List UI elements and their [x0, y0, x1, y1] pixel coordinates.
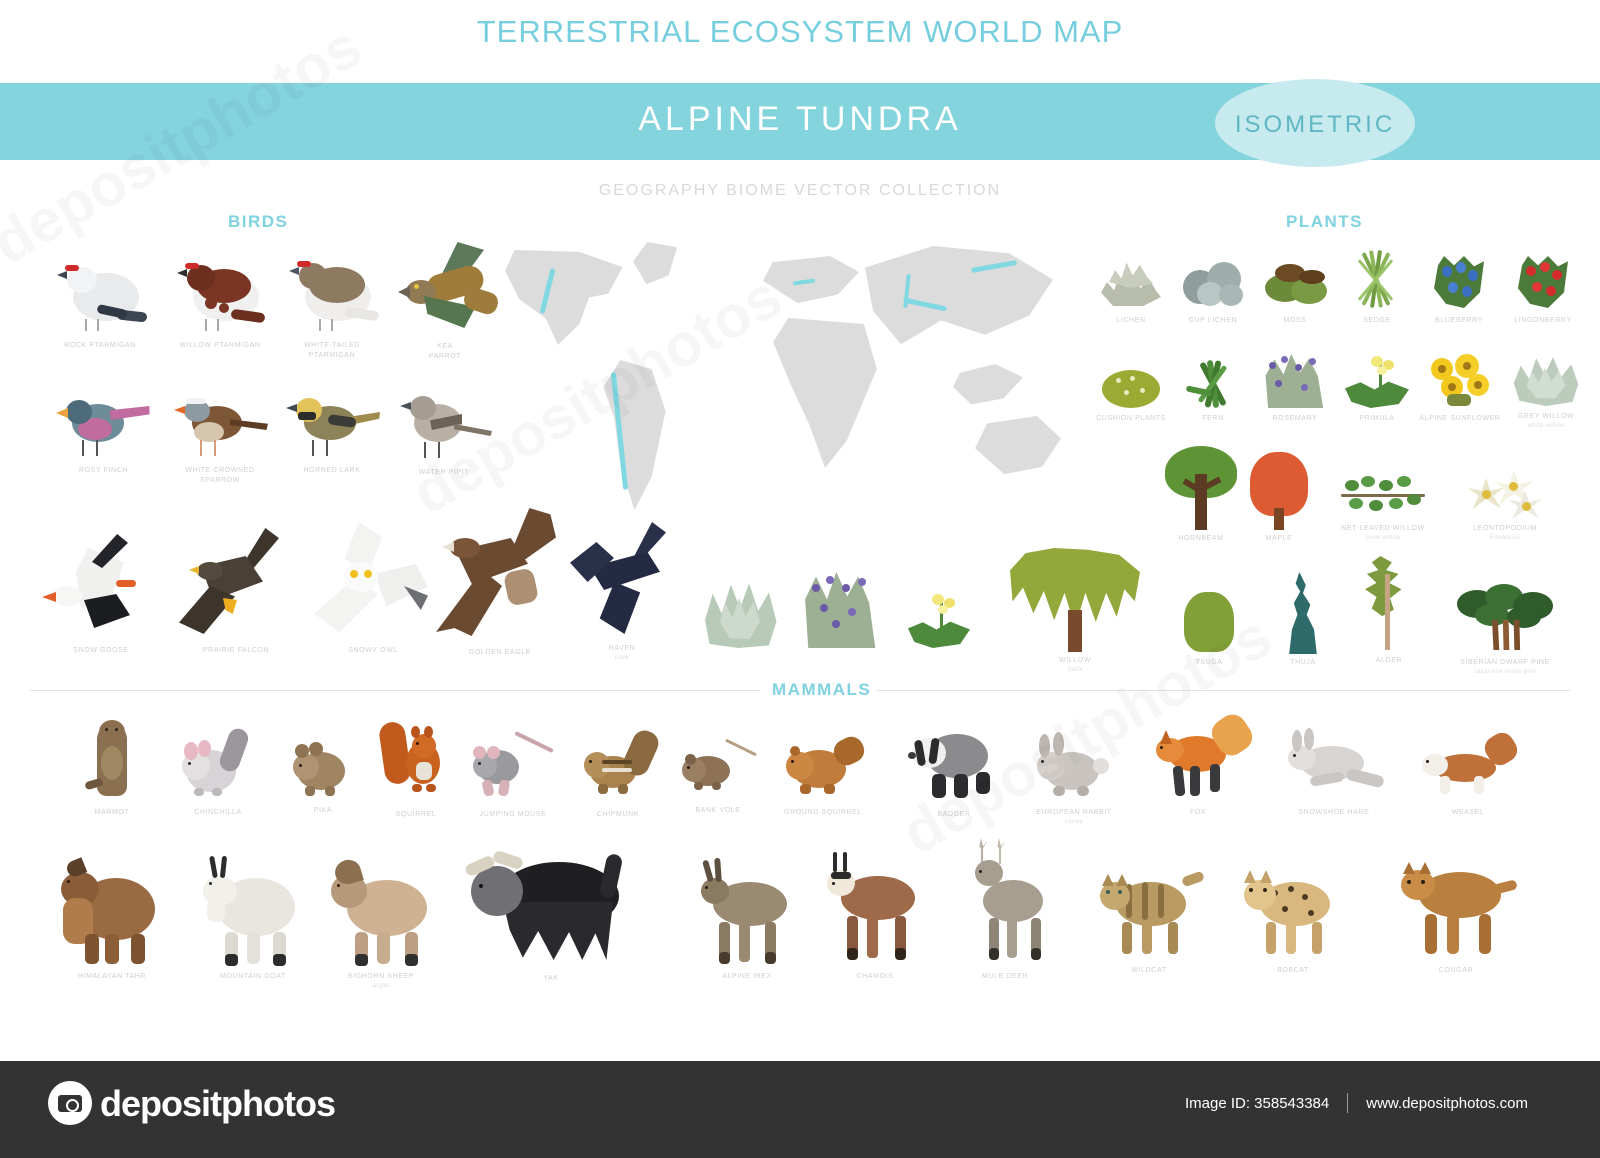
golden-eagle-illustration [434, 508, 566, 644]
species-label: ROSEMARY [1273, 414, 1318, 424]
species-card-willow-ptarmigan[interactable]: WILLOW PTARMIGAN [160, 245, 280, 351]
species-card-water-pipit[interactable]: WATER PIPIT [384, 390, 504, 478]
species-card-snow-goose[interactable]: SNOW GOOSE [36, 530, 166, 656]
species-label: LEONTOPODIUM [1473, 524, 1537, 534]
species-label: ALPINE IBEX [722, 972, 771, 982]
species-card-cougar[interactable]: COUGAR [1386, 846, 1526, 976]
raven-illustration [566, 522, 678, 640]
lingonberry-illustration [1510, 248, 1576, 312]
species-label: GREY WILLOW [1518, 412, 1575, 422]
landmass-europe [763, 256, 859, 318]
prairie-falcon-illustration [173, 524, 299, 642]
species-card-siberian-dwarf-pine[interactable]: SIBERIAN DWARF PINE Japanese stone pine [1440, 582, 1570, 677]
chamois-illustration [819, 848, 931, 968]
squirrel-illustration [378, 718, 454, 806]
willow-illustration [1006, 548, 1144, 652]
marmot-illustration [81, 718, 143, 804]
species-card-ground-squirrel[interactable]: GROUND SQUIRREL [770, 728, 876, 818]
species-card-pika[interactable]: PIKA [278, 734, 368, 816]
fern-illustration [1180, 356, 1246, 410]
species-card-primula-large[interactable] [898, 592, 980, 650]
cougar-illustration [1393, 846, 1519, 962]
species-card-primula[interactable]: PRIMULA [1334, 352, 1420, 424]
species-label: ALDER [1376, 656, 1402, 666]
species-label: MULE DEER [982, 972, 1028, 982]
kea-parrot-illustration [390, 238, 500, 338]
maple-illustration [1244, 452, 1314, 530]
species-label: SIBERIAN DWARF PINE [1460, 658, 1550, 668]
species-sublabel: crow [615, 654, 629, 663]
website-url[interactable]: www.depositphotos.com [1366, 1095, 1528, 1112]
rosemary-illustration [1255, 348, 1335, 410]
species-label: SEDGE [1363, 316, 1391, 326]
species-card-golden-eagle[interactable]: GOLDEN EAGLE [430, 508, 570, 658]
species-label: HORNED LARK [303, 466, 360, 476]
species-card-mountain-goat[interactable]: MOUNTAIN GOAT [190, 850, 316, 982]
alpine-ibex-illustration [691, 854, 803, 968]
species-label: TSUGA [1195, 658, 1222, 668]
species-card-white-tailed-ptarmigan[interactable]: WHITE-TAILED PTARMIGAN [272, 245, 392, 361]
species-card-snowy-owl[interactable]: SNOWY OWL [308, 520, 438, 656]
badger-illustration [906, 714, 1002, 806]
species-label: MOUNTAIN GOAT [220, 972, 286, 982]
grey-shrub-illustration [700, 580, 780, 650]
species-card-bobcat[interactable]: BOBCAT [1230, 856, 1356, 976]
alpine-sunflower-illustration [1421, 350, 1499, 410]
weasel-illustration [1416, 726, 1520, 804]
species-label: WEASEL [1452, 808, 1485, 818]
brand-name: depositphotos [100, 1083, 335, 1125]
species-card-tsuga[interactable]: TSUGA [1168, 592, 1250, 668]
chipmunk-illustration [576, 726, 660, 806]
yak-illustration [463, 840, 639, 970]
image-id-label: Image ID: 358543384 [1185, 1095, 1329, 1112]
species-card-marmot[interactable]: MARMOT [64, 718, 160, 818]
section-heading-birds: BIRDS [228, 212, 288, 232]
landmass-north-america [505, 250, 625, 345]
grey-willow-illustration [1507, 350, 1585, 408]
moss-illustration [1259, 248, 1331, 312]
snowshoe-hare-illustration [1280, 722, 1388, 804]
section-divider-right [876, 690, 1570, 691]
fox-illustration [1146, 710, 1250, 804]
species-label: JUMPING MOUSE [480, 810, 547, 820]
species-card-blueberry[interactable]: BLUEBERRY [1416, 248, 1502, 326]
chinchilla-illustration [176, 726, 260, 804]
tsuga-illustration [1178, 592, 1240, 654]
species-label: MOSS [1283, 316, 1306, 326]
isometric-badge-label: ISOMETRIC [1215, 111, 1415, 139]
species-label: KEA PARROT [429, 342, 461, 362]
species-card-grey-willow[interactable]: GREY WILLOW white willow [1500, 350, 1592, 431]
species-card-yak[interactable]: YAK [456, 840, 646, 984]
bobcat-illustration [1236, 856, 1350, 962]
landmass-africa [771, 318, 879, 468]
camera-icon [58, 1095, 82, 1112]
species-label: PRAIRIE FALCON [203, 646, 269, 656]
siberian-dwarf-pine-illustration [1451, 582, 1559, 654]
species-label: ROSY FINCH [79, 466, 128, 476]
species-label: BIGHORN SHEEP [348, 972, 414, 982]
species-label: HIMALAYAN TAHR [78, 972, 146, 982]
species-label: BLUEBERRY [1435, 316, 1483, 326]
species-card-snowshoe-hare[interactable]: SNOWSHOE HARE [1274, 722, 1394, 818]
snow-goose-illustration [42, 530, 160, 642]
snowy-owl-illustration [312, 520, 434, 642]
species-label: ROCK PTARMIGAN [64, 341, 136, 351]
species-label: BADGER [937, 810, 970, 820]
species-label: MAPLE [1266, 534, 1293, 544]
species-card-horned-lark[interactable]: HORNED LARK [272, 390, 392, 476]
species-label: GROUND SQUIRREL [784, 808, 862, 818]
species-card-chipmunk[interactable]: CHIPMUNK [568, 726, 668, 820]
species-card-weasel[interactable]: WEASEL [1410, 726, 1526, 818]
landmass-asia [853, 246, 1053, 366]
species-label: RAVEN [609, 644, 636, 654]
species-sublabel: snow willow [1365, 534, 1401, 543]
page-subtitle: GEOGRAPHY BIOME VECTOR COLLECTION [0, 182, 1600, 200]
species-label: PRIMULA [1359, 414, 1394, 424]
species-card-lingonberry[interactable]: LINGONBERRY [1498, 248, 1588, 326]
species-label: EUROPEAN RABBIT [1036, 808, 1112, 818]
species-card-badger[interactable]: BADGER [900, 714, 1008, 820]
horned-lark-illustration [284, 390, 380, 462]
pika-illustration [287, 734, 359, 802]
ground-squirrel-illustration [778, 728, 868, 804]
species-label: MARMOT [95, 808, 130, 818]
species-card-maple[interactable]: MAPLE [1236, 452, 1322, 544]
section-heading-plants: PLANTS [1286, 212, 1363, 232]
species-sublabel: argali [372, 982, 389, 991]
lichen-illustration [1095, 248, 1167, 312]
species-label: CHIPMUNK [597, 810, 639, 820]
species-card-raven[interactable]: RAVEN crow [562, 522, 682, 663]
species-card-rosemary[interactable]: ROSEMARY [1248, 348, 1342, 424]
species-card-alpine-sunflower[interactable]: ALPINE SUNFLOWER white willow [1412, 350, 1508, 424]
primula-illustration [1341, 352, 1413, 410]
european-rabbit-illustration [1029, 728, 1119, 804]
species-label: PIKA [314, 806, 332, 816]
species-card-net-leaved-willow[interactable]: NET-LEAVED WILLOW snow willow [1328, 470, 1438, 543]
species-card-moss[interactable]: MOSS [1252, 248, 1338, 326]
species-card-mule-deer[interactable]: MULE DEER [940, 838, 1070, 982]
hornbeam-illustration [1161, 446, 1241, 530]
landmass-southeast-asia [953, 364, 1023, 408]
species-label: FERN [1202, 414, 1223, 424]
species-sublabel: coney [1065, 818, 1083, 827]
wildcat-illustration [1092, 856, 1206, 962]
footer-separator [1347, 1093, 1348, 1113]
blueberry-illustration [1426, 248, 1492, 312]
primula-large-illustration [904, 592, 974, 650]
species-card-fox[interactable]: FOX [1140, 710, 1256, 818]
species-label: ALPINE SUNFLOWER [1419, 414, 1500, 424]
species-label: SNOW GOOSE [73, 646, 128, 656]
species-sublabel: white willow [1528, 422, 1564, 431]
species-card-rosy-finch[interactable]: ROSY FINCH [46, 390, 161, 476]
species-label: CHAMOIS [857, 972, 894, 982]
species-label: COUGAR [1439, 966, 1473, 976]
species-card-thuja[interactable]: THUJA [1260, 572, 1346, 668]
species-card-bighorn-sheep[interactable]: BIGHORN SHEEP argali [316, 850, 446, 991]
species-card-wildcat[interactable]: WILDCAT [1086, 856, 1212, 976]
cushion-plants-illustration [1098, 362, 1164, 410]
species-label: FOX [1190, 808, 1206, 818]
species-card-willow[interactable]: WILLOW Salix [1000, 548, 1150, 675]
species-label: SQUIRREL [396, 810, 437, 820]
species-card-alder[interactable]: ALDER [1346, 556, 1432, 666]
willow-ptarmigan-illustration [175, 245, 265, 337]
cup-lichen-illustration [1177, 248, 1249, 312]
species-label: BANK VOLE [695, 806, 740, 816]
species-label: WILLOW [1059, 656, 1091, 666]
species-label: CUP LICHEN [1189, 316, 1237, 326]
species-card-chinchilla[interactable]: CHINCHILLA [170, 726, 266, 818]
net-leaved-willow-illustration [1335, 470, 1431, 520]
himalayan-tahr-illustration [53, 850, 171, 968]
species-card-himalayan-tahr[interactable]: HIMALAYAN TAHR [46, 850, 178, 982]
species-label: WATER PIPIT [419, 468, 470, 478]
species-card-alpine-ibex[interactable]: ALPINE IBEX [684, 854, 810, 982]
species-card-hornbeam[interactable]: HORNBEAM [1154, 446, 1248, 544]
species-sublabel: Salix [1067, 666, 1082, 675]
species-sublabel: Edelweiss [1490, 534, 1521, 543]
mule-deer-illustration [947, 838, 1063, 968]
species-card-lichen[interactable]: LICHEN [1088, 248, 1174, 326]
species-card-shrub-grey[interactable] [694, 580, 786, 650]
species-card-fern[interactable]: FERN [1170, 356, 1256, 424]
species-card-chamois[interactable]: CHAMOIS [812, 848, 938, 982]
species-label: NET-LEAVED WILLOW [1341, 524, 1425, 534]
species-card-leontopodium[interactable]: LEONTOPODIUM Edelweiss [1450, 468, 1560, 543]
species-label: THUJA [1290, 658, 1316, 668]
leontopodium-illustration [1460, 468, 1550, 520]
rosemary-large-illustration [796, 570, 888, 650]
thuja-illustration [1270, 572, 1336, 654]
page-title: TERRESTRIAL ECOSYSTEM WORLD MAP [0, 14, 1600, 50]
landmass-australia [975, 416, 1061, 478]
sedge-illustration [1340, 244, 1414, 312]
species-label: LICHEN [1116, 316, 1145, 326]
species-label: SNOWSHOE HARE [1299, 808, 1370, 818]
species-label: BOBCAT [1277, 966, 1309, 976]
species-label: YAK [543, 974, 558, 984]
species-card-prairie-falcon[interactable]: PRAIRIE FALCON [166, 524, 306, 656]
world-map [505, 240, 1085, 530]
species-card-cushion-plants[interactable]: CUSHION PLANTS [1088, 362, 1174, 424]
mountain-goat-illustration [197, 850, 309, 968]
footer-meta: Image ID: 358543384 www.depositphotos.co… [1185, 1093, 1528, 1113]
species-card-rosemary-large[interactable] [790, 570, 894, 650]
rock-ptarmigan-illustration [55, 245, 145, 337]
species-card-white-crowned-sparrow[interactable]: WHITE CROWNED SPARROW [160, 390, 280, 486]
species-label: SNOWY OWL [348, 646, 398, 656]
species-label: WILDCAT [1131, 966, 1166, 976]
species-card-squirrel[interactable]: SQUIRREL [368, 718, 464, 820]
section-heading-mammals: MAMMALS [772, 680, 871, 700]
section-divider-left [30, 690, 760, 691]
footer-bar: depositphotos Image ID: 358543384 www.de… [0, 1061, 1600, 1158]
species-card-cup-lichen[interactable]: CUP LICHEN [1170, 248, 1256, 326]
species-card-bank-vole[interactable]: BANK VOLE [672, 740, 764, 816]
species-card-sedge[interactable]: SEDGE [1334, 244, 1420, 326]
species-label: WHITE-TAILED PTARMIGAN [304, 341, 360, 361]
species-label: WILLOW PTARMIGAN [179, 341, 260, 351]
species-card-kea-parrot[interactable]: KEA PARROT [380, 238, 510, 362]
species-card-jumping-mouse[interactable]: JUMPING MOUSE [460, 734, 566, 820]
species-label: HORNBEAM [1178, 534, 1223, 544]
species-label: LINGONBERRY [1514, 316, 1571, 326]
landmass-south-america [597, 360, 675, 510]
white-crowned-sparrow-illustration [172, 390, 268, 462]
species-label: CUSHION PLANTS [1096, 414, 1166, 424]
bighorn-sheep-illustration [323, 850, 439, 968]
species-label: CHINCHILLA [194, 808, 242, 818]
jumping-mouse-illustration [469, 734, 557, 806]
white-tailed-ptarmigan-illustration [287, 245, 377, 337]
depositphotos-logo-icon [48, 1081, 92, 1125]
species-label: WHITE CROWNED SPARROW [185, 466, 254, 486]
landmass-greenland [633, 242, 681, 286]
rosy-finch-illustration [56, 390, 152, 462]
species-label: GOLDEN EAGLE [469, 648, 531, 658]
bank-vole-illustration [678, 740, 758, 802]
species-card-european-rabbit[interactable]: EUROPEAN RABBIT coney [1020, 728, 1128, 827]
species-sublabel: Japanese stone pine [1474, 668, 1537, 677]
species-card-rock-ptarmigan[interactable]: ROCK PTARMIGAN [40, 245, 160, 351]
alder-illustration [1357, 556, 1421, 652]
water-pipit-illustration [396, 390, 492, 464]
